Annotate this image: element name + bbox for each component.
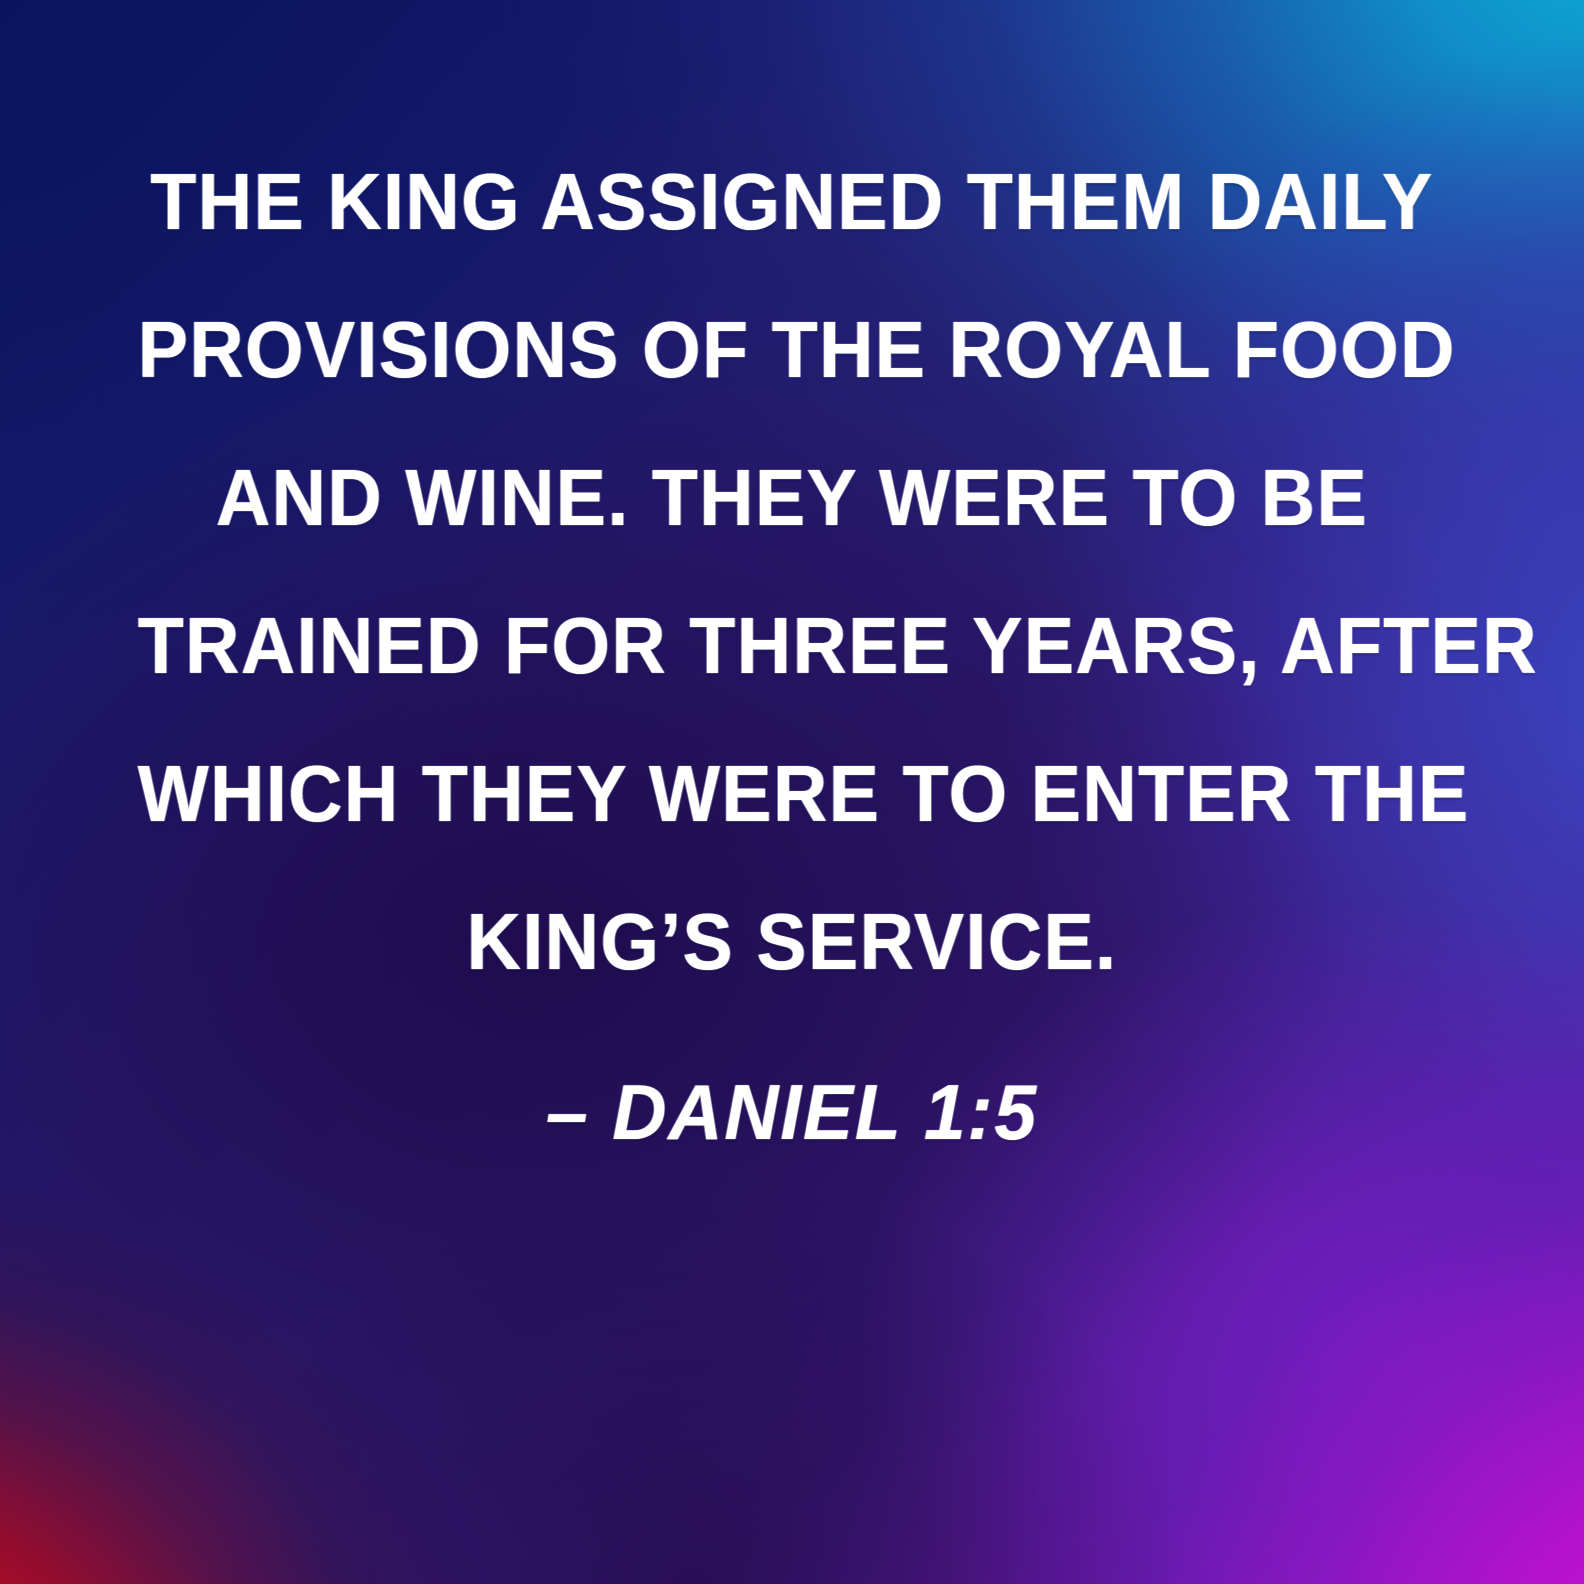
verse-line-2: provisions of the royal food: [138, 276, 1446, 424]
verse-attribution: – Daniel 1:5: [124, 1062, 1460, 1162]
verse-line-4: trained for three years, after: [138, 572, 1446, 720]
quote-text-block: The king assigned them daily provisions …: [0, 128, 1584, 1162]
verse-line-3: and wine. They were to be: [138, 424, 1446, 572]
verse-line-1: The king assigned them daily: [138, 128, 1446, 276]
verse-line-6: king’s service.: [138, 868, 1446, 1016]
quote-card-canvas: The king assigned them daily provisions …: [0, 0, 1584, 1584]
verse-line-5: which they were to enter the: [138, 720, 1446, 868]
